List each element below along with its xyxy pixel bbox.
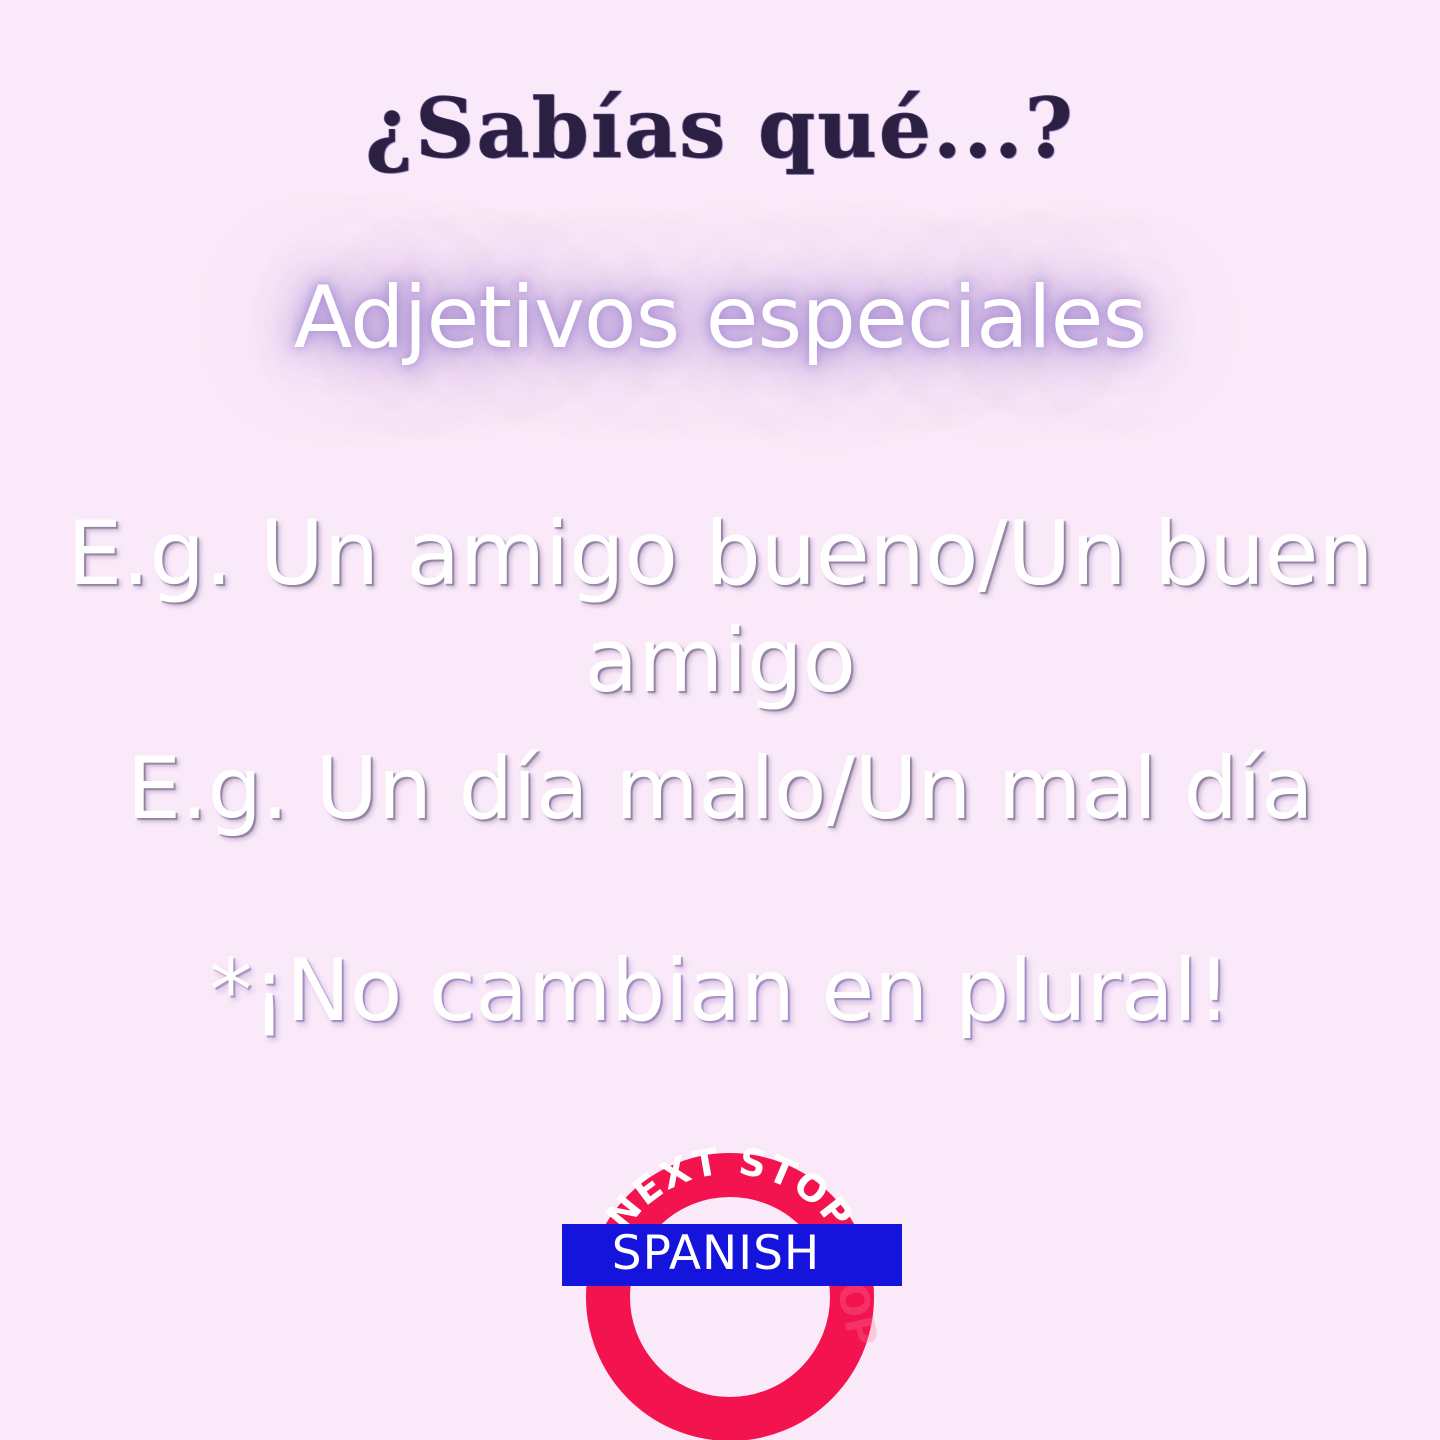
plural-note: *¡No cambian en plural!	[0, 940, 1440, 1043]
examples-block: E.g. Un amigo bueno/Un buen amigo E.g. U…	[0, 500, 1440, 842]
example-line-bueno: E.g. Un amigo bueno/Un buen amigo	[0, 500, 1440, 715]
next-stop-spanish-logo: STOP NEXT STOP SPANISH	[540, 1092, 920, 1440]
roundel-bar-label: SPANISH	[612, 1226, 821, 1281]
topic-heading: Adjetivos especiales	[0, 272, 1440, 365]
poster-canvas: ¿Sabías qué...? Adjetivos especiales E.g…	[0, 0, 1440, 1440]
page-title: ¿Sabías qué...?	[0, 86, 1440, 172]
example-line-malo: E.g. Un día malo/Un mal día	[0, 737, 1440, 842]
